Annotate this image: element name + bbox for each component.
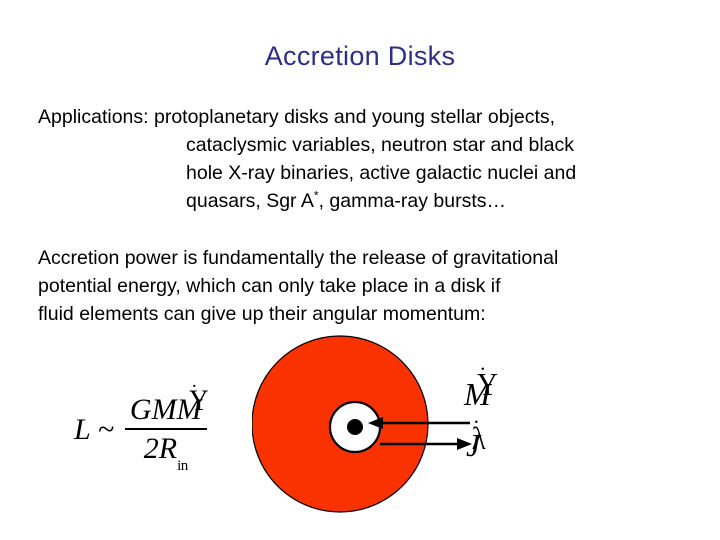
mdot-glyph: MY˙ xyxy=(177,393,202,427)
label-jdot-dot-accent: ˙ xyxy=(473,415,481,442)
central-object-dot xyxy=(347,419,363,435)
applications-line-4-tail: , gamma-ray bursts… xyxy=(319,190,506,212)
applications-line-4: quasars, Sgr A*, gamma-ray bursts… xyxy=(38,187,708,215)
equation-numerator-prefix: GM xyxy=(130,393,177,426)
applications-line-4-head: quasars, Sgr A xyxy=(186,190,314,212)
angular-momentum-rate-label: Jλ˙ xyxy=(466,427,480,464)
label-mdot-dot-accent: ˙ xyxy=(479,362,487,389)
applications-line-3: hole X-ray binaries, active galactic nuc… xyxy=(38,159,708,187)
page-title: Accretion Disks xyxy=(0,41,720,72)
applications-text-block: Applications: protoplanetary disks and y… xyxy=(38,103,708,215)
denominator-subscript: in xyxy=(177,458,188,474)
equation-fraction: GMMY˙ 2Rin xyxy=(125,393,207,466)
power-line-3: fluid elements can give up their angular… xyxy=(38,300,718,328)
slide-canvas: Accretion Disks Applications: protoplane… xyxy=(0,0,720,540)
equation-numerator: GMMY˙ xyxy=(125,393,207,428)
accretion-disk-diagram: MY˙ Jλ˙ xyxy=(252,334,522,534)
luminosity-equation: L ~ GMMY˙ 2Rin xyxy=(74,393,207,466)
applications-line-1: Applications: protoplanetary disks and y… xyxy=(38,103,708,131)
equation-relation-sign: ~ xyxy=(98,413,114,447)
equation-lhs: L xyxy=(74,413,91,447)
applications-line-2: cataclysmic variables, neutron star and … xyxy=(38,131,708,159)
mass-accretion-rate-label: MY˙ xyxy=(464,376,491,413)
power-text-block: Accretion power is fundamentally the rel… xyxy=(38,244,718,328)
power-line-2: potential energy, which can only take pl… xyxy=(38,272,718,300)
mdot-dot-accent: ˙ xyxy=(191,380,198,405)
power-line-1: Accretion power is fundamentally the rel… xyxy=(38,244,718,272)
equation-denominator: 2Rin xyxy=(139,430,193,466)
denominator-main: 2R xyxy=(144,432,177,465)
